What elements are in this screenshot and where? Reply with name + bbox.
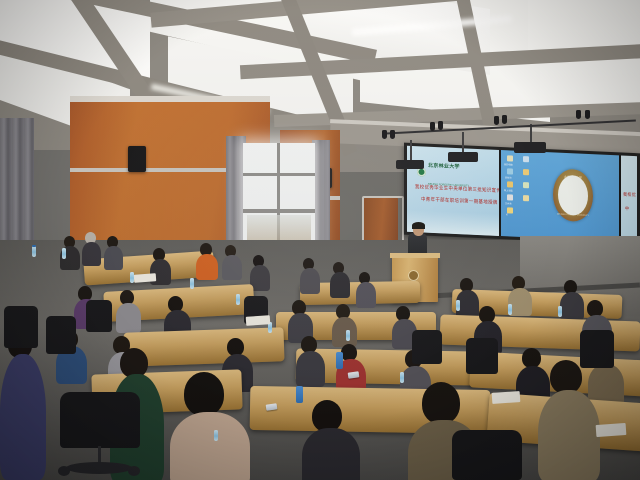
- spotlight-icon: [382, 130, 387, 139]
- person-head: [184, 372, 224, 416]
- wall-trim: [70, 96, 270, 102]
- screen-bezel: [619, 155, 621, 241]
- desktop-icon[interactable]: [507, 181, 513, 187]
- water-bottle: [346, 330, 350, 341]
- office-chair[interactable]: [46, 316, 76, 354]
- water-bottle: [62, 248, 66, 259]
- water-bottle: [456, 300, 460, 311]
- office-chair[interactable]: [86, 300, 112, 332]
- chair-caster: [128, 466, 140, 476]
- office-chair[interactable]: [4, 306, 38, 348]
- person-torso: [296, 351, 325, 387]
- projector: [448, 152, 478, 162]
- water-bottle: [190, 278, 194, 289]
- person-torso: [538, 390, 600, 480]
- water-bottle: [214, 430, 218, 441]
- paper-document: [134, 273, 157, 283]
- person-torso: [0, 354, 46, 480]
- water-bottle: [558, 306, 562, 317]
- office-chair-foreground[interactable]: [452, 430, 522, 480]
- person-torso: [222, 255, 242, 280]
- person-torso: [300, 268, 320, 294]
- person-torso: [170, 412, 250, 480]
- blue-thermos: [296, 386, 303, 403]
- office-chair-foreground[interactable]: [60, 392, 140, 448]
- spotlight-icon: [438, 121, 443, 130]
- paper-document: [246, 315, 271, 326]
- screen-panel-right: 我校优 中: [621, 155, 637, 242]
- desktop-icon[interactable]: [523, 195, 529, 201]
- tree-icon: [565, 179, 581, 202]
- projection-screen: 北京林业大学 BEIJING FORESTRY UNIVERSITY 我校优秀毕…: [404, 143, 640, 246]
- emblem-bottom-text: BEIJING FORESTRY UNIVERSITY: [553, 213, 593, 217]
- desktop-icon-label: 文件夹: [505, 201, 512, 205]
- lecture-hall-photo: 北京林业大学 BEIJING FORESTRY UNIVERSITY 我校优秀毕…: [0, 0, 640, 480]
- paper-document: [492, 391, 521, 404]
- water-bottle: [236, 294, 240, 305]
- water-bottle: [508, 304, 512, 315]
- desktop-icon[interactable]: [523, 156, 529, 162]
- spotlight-icon: [585, 110, 590, 119]
- window-mullion: [243, 209, 315, 213]
- blue-thermos: [336, 352, 343, 369]
- slide-right-line-1: 我校优: [623, 191, 636, 198]
- chair-caster: [58, 466, 70, 476]
- screen-bezel: [499, 150, 501, 236]
- person-torso: [82, 242, 101, 266]
- office-chair[interactable]: [412, 330, 442, 364]
- projector-mount-pole: [530, 124, 532, 144]
- desktop-icon[interactable]: [507, 207, 513, 213]
- desktop-icon-label: 网上邻居: [504, 188, 513, 192]
- chair-base: [66, 462, 132, 474]
- spotlight-icon: [494, 116, 499, 125]
- desktop-icon[interactable]: [523, 169, 529, 175]
- projector-mount-pole: [462, 132, 464, 154]
- projector: [396, 160, 424, 169]
- emblem-top-text: 北京林业大学: [553, 174, 593, 180]
- wall-speaker-icon: [128, 146, 146, 172]
- desktop-icon[interactable]: [523, 182, 529, 188]
- person-head: [522, 348, 541, 368]
- podium-top-surface: [390, 253, 440, 258]
- water-bottle: [32, 246, 36, 257]
- person-torso: [196, 254, 218, 280]
- spotlight-icon: [430, 122, 435, 131]
- university-emblem: 北京林业大学 BEIJING FORESTRY UNIVERSITY: [553, 168, 593, 222]
- slide-right-line-2: 中: [625, 205, 629, 212]
- spotlight-icon: [502, 115, 507, 124]
- logo-text: 北京林业大学: [428, 163, 460, 170]
- person-torso: [330, 272, 350, 298]
- office-chair[interactable]: [466, 338, 498, 374]
- tree-trunk-icon: [572, 202, 574, 209]
- water-bottle: [400, 372, 404, 383]
- projector-mount-pole: [410, 140, 412, 162]
- spotlight-icon: [576, 110, 581, 119]
- person-torso: [332, 317, 357, 347]
- slide-title-line-1: 我校优秀毕业生中央单位第三批知识宣传员: [415, 184, 499, 195]
- desktop-icon[interactable]: [507, 155, 513, 161]
- office-chair[interactable]: [580, 330, 614, 368]
- person-torso: [116, 303, 141, 333]
- person-head: [422, 382, 460, 424]
- desktop-icon-label: 我的电脑: [504, 162, 513, 166]
- slide-title-line-2: 中青年干部在职培训第一期基地授牌: [421, 196, 498, 206]
- person-torso: [302, 428, 360, 480]
- desktop-icon[interactable]: [507, 194, 513, 200]
- projector: [514, 142, 546, 153]
- desktop-icon-label: 回收站: [505, 175, 512, 179]
- window-mullion: [243, 173, 315, 176]
- screen-panel-center: 我的电脑 回收站 网上邻居 文件夹 IE 北京林业大学 BEIJING FORE…: [501, 150, 619, 241]
- person-torso: [560, 292, 584, 320]
- desktop-icon-label: IE: [506, 214, 508, 216]
- paper-document: [596, 423, 627, 437]
- spotlight-icon: [390, 130, 395, 139]
- desktop-icon[interactable]: [507, 168, 513, 174]
- person-torso: [356, 282, 376, 308]
- bottle-cap-icon: [32, 245, 36, 247]
- podium-emblem-icon: [408, 270, 419, 281]
- person-head: [550, 360, 582, 394]
- presenter-hair: [412, 222, 425, 229]
- person-torso: [104, 246, 123, 270]
